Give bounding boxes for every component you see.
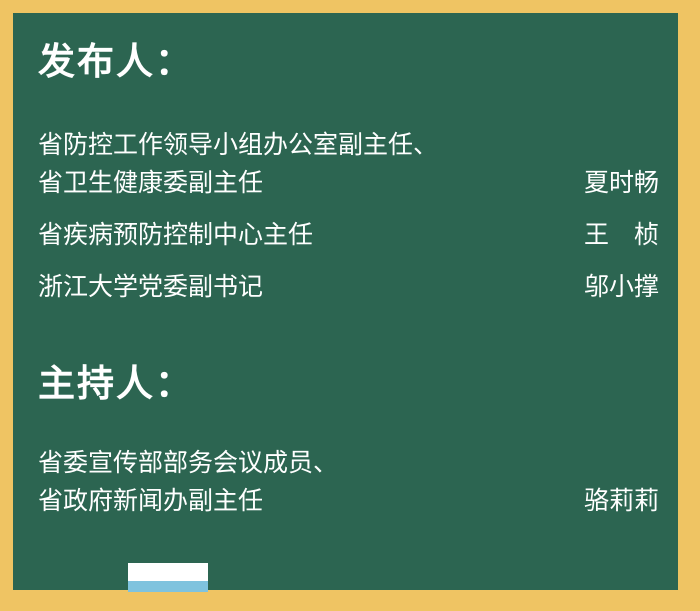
green-board-panel: 发布人： 省防控工作领导小组办公室副主任、 省卫生健康委副主任 夏时畅 省疾病预… bbox=[13, 13, 678, 590]
publisher-entry-1-titles: 省防控工作领导小组办公室副主任、 省卫生健康委副主任 bbox=[38, 126, 438, 202]
poster-container: 发布人： 省防控工作领导小组办公室副主任、 省卫生健康委副主任 夏时畅 省疾病预… bbox=[0, 0, 700, 611]
host-entry-1-title-line-1: 省委宣传部部务会议成员、 bbox=[38, 444, 338, 482]
sticker-white-bar bbox=[128, 563, 208, 581]
publisher-entry-3-titles: 浙江大学党委副书记 bbox=[38, 268, 263, 306]
host-entry-1-name: 骆莉莉 bbox=[584, 482, 659, 520]
publisher-entry-3-name: 邬小撑 bbox=[584, 268, 659, 306]
publisher-entry-2-name: 王 桢 bbox=[584, 216, 659, 254]
publisher-entry-3-title-line-1: 浙江大学党委副书记 bbox=[38, 268, 263, 306]
publisher-entry-1-title-line-1: 省防控工作领导小组办公室副主任、 bbox=[38, 126, 438, 164]
host-heading: 主持人： bbox=[38, 365, 194, 402]
publisher-entry-2-title-line-1: 省疾病预防控制中心主任 bbox=[38, 216, 313, 254]
publisher-entry-1-name: 夏时畅 bbox=[584, 164, 659, 202]
publisher-entry-2-titles: 省疾病预防控制中心主任 bbox=[38, 216, 313, 254]
publisher-entry-1-title-line-2: 省卫生健康委副主任 bbox=[38, 164, 438, 202]
sticker-blue-bar bbox=[128, 581, 208, 592]
publishers-heading: 发布人： bbox=[38, 43, 194, 80]
host-entry-1-titles: 省委宣传部部务会议成员、 省政府新闻办副主任 bbox=[38, 444, 338, 520]
host-entry-1-title-line-2: 省政府新闻办副主任 bbox=[38, 482, 338, 520]
